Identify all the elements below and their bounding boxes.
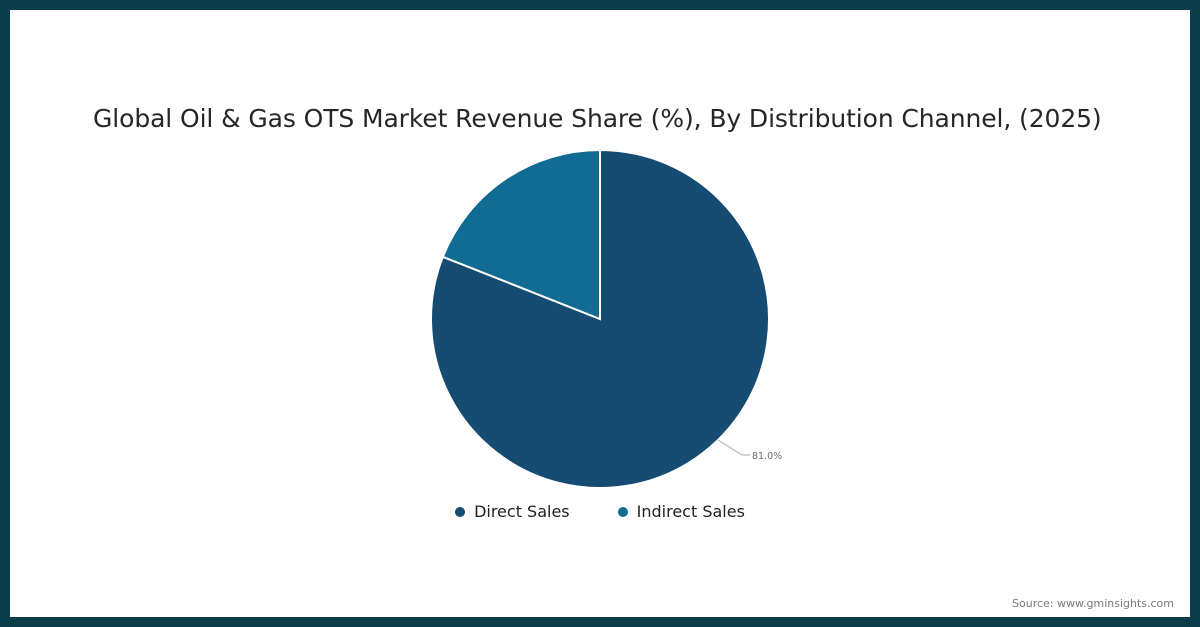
legend-marker-icon [618,507,628,517]
legend-label: Indirect Sales [637,502,745,522]
pie-chart: 81.0% [0,0,1200,627]
legend-marker-icon [455,507,465,517]
pie-slices [431,150,769,488]
pie-chart-svg [0,0,1200,627]
legend-item-direct-sales[interactable]: Direct Sales [455,502,570,522]
legend-label: Direct Sales [474,502,570,522]
pie-leader-line [718,440,750,455]
chart-page: Global Oil & Gas OTS Market Revenue Shar… [0,0,1200,627]
leader-line-direct-sales [718,440,750,455]
source-attribution: Source: www.gminsights.com [1012,597,1174,610]
chart-legend: Direct Sales Indirect Sales [0,502,1200,522]
legend-item-indirect-sales[interactable]: Indirect Sales [618,502,745,522]
pie-data-label-direct-sales: 81.0% [752,451,782,462]
